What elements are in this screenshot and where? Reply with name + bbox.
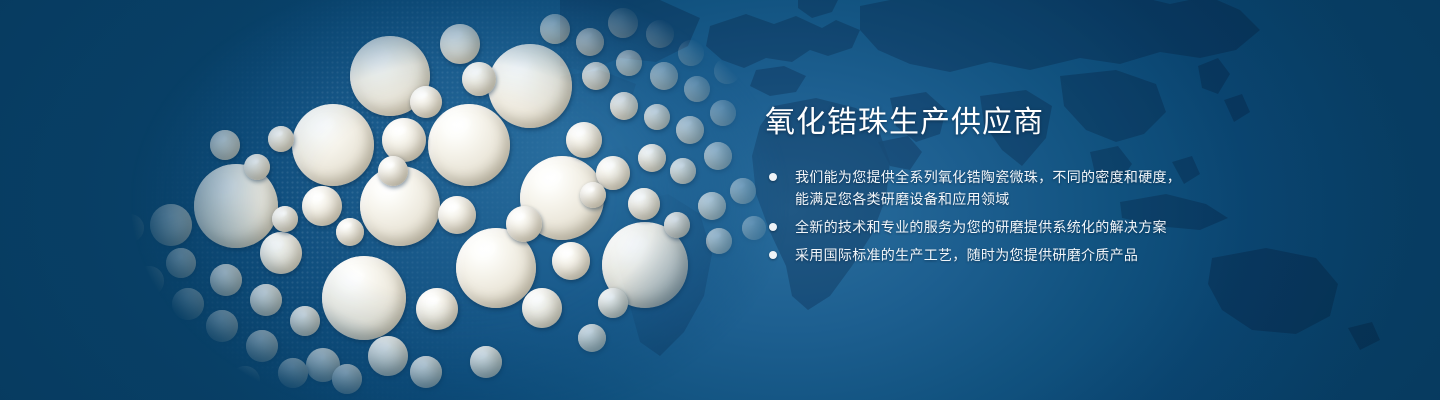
list-item-line1: 采用国际标准的生产工艺，随时为您提供研磨介质产品 [795,247,1138,263]
list-item-line1: 全新的技术和专业的服务为您的研磨提供系统化的解决方案 [795,219,1167,235]
page-title: 氧化锆珠生产供应商 [765,104,1215,142]
list-item-line2: 能满足您各类研磨设备和应用领域 [795,188,1215,210]
bullet-dot-icon [769,173,777,181]
list-item-line1: 我们能为您提供全系列氧化锆陶瓷微珠，不同的密度和硬度， [795,169,1181,185]
list-item: 采用国际标准的生产工艺，随时为您提供研磨介质产品 [765,244,1215,266]
banner-copy: 氧化锆珠生产供应商 我们能为您提供全系列氧化锆陶瓷微珠，不同的密度和硬度， 能满… [765,104,1215,266]
bullet-dot-icon [769,223,777,231]
bullet-dot-icon [769,251,777,259]
banner-vignette [0,0,1440,400]
list-item: 我们能为您提供全系列氧化锆陶瓷微珠，不同的密度和硬度， 能满足您各类研磨设备和应… [765,166,1215,210]
feature-list: 我们能为您提供全系列氧化锆陶瓷微珠，不同的密度和硬度， 能满足您各类研磨设备和应… [765,166,1215,266]
list-item: 全新的技术和专业的服务为您的研磨提供系统化的解决方案 [765,216,1215,238]
hero-banner: 氧化锆珠生产供应商 我们能为您提供全系列氧化锆陶瓷微珠，不同的密度和硬度， 能满… [0,0,1440,400]
